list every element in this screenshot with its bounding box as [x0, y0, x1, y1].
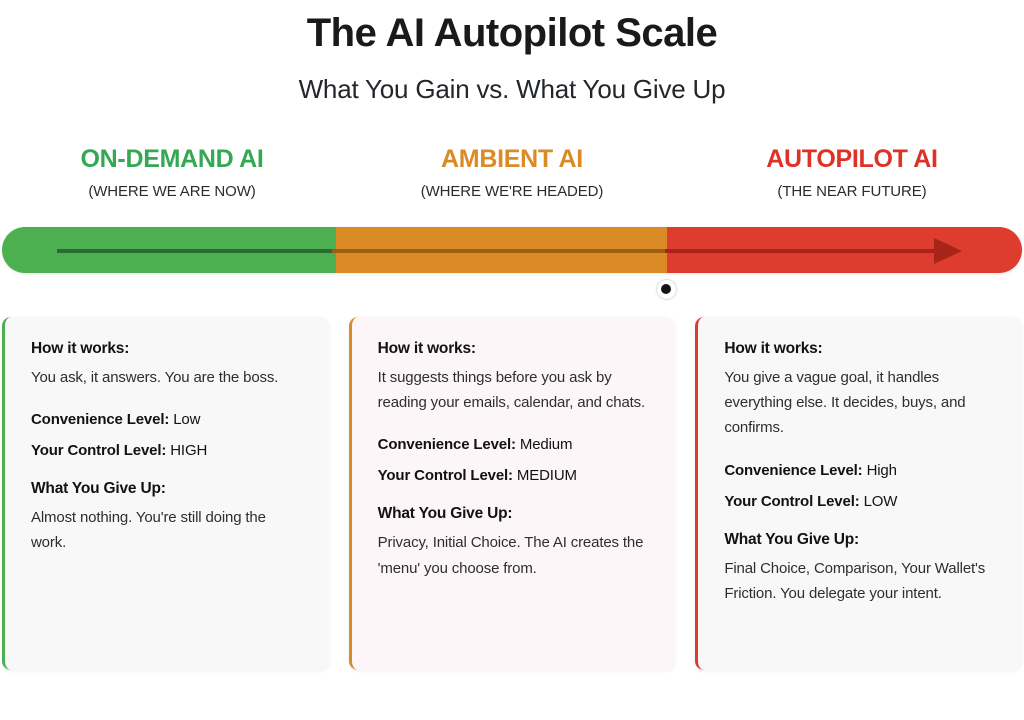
- control-level-2: Your Control Level: MEDIUM: [378, 467, 652, 484]
- give-up-text-3: Final Choice, Comparison, Your Wallet's …: [724, 556, 998, 606]
- convenience-level-2: Convenience Level: Medium: [378, 436, 652, 453]
- scale-segment-ambient: [336, 227, 668, 273]
- control-value-1: HIGH: [170, 442, 207, 459]
- column-subtitle-on-demand: (WHERE WE ARE NOW): [2, 183, 342, 200]
- control-label-1: Your Control Level:: [31, 442, 166, 459]
- convenience-label-2: Convenience Level:: [378, 436, 516, 453]
- card-ambient: How it works: It suggests things before …: [349, 317, 676, 670]
- control-value-2: MEDIUM: [517, 467, 577, 484]
- convenience-value-3: High: [867, 462, 897, 479]
- control-label-3: Your Control Level:: [724, 493, 859, 510]
- give-up-text-1: Almost nothing. You're still doing the w…: [31, 505, 305, 555]
- column-title-autopilot: AUTOPILOT AI: [682, 145, 1022, 174]
- scale-segment-on-demand: [2, 227, 336, 273]
- control-level-3: Your Control Level: LOW: [724, 493, 998, 510]
- give-up-label-3: What You Give Up:: [724, 531, 998, 549]
- convenience-level-1: Convenience Level: Low: [31, 411, 305, 428]
- page-subtitle: What You Gain vs. What You Give Up: [0, 74, 1024, 105]
- convenience-label-1: Convenience Level:: [31, 411, 169, 428]
- convenience-level-3: Convenience Level: High: [724, 462, 998, 479]
- card-on-demand: How it works: You ask, it answers. You a…: [2, 317, 329, 670]
- column-subtitle-ambient: (WHERE WE'RE HEADED): [342, 183, 682, 200]
- column-header-on-demand: ON-DEMAND AI (WHERE WE ARE NOW): [2, 145, 342, 200]
- convenience-value-1: Low: [173, 411, 200, 428]
- column-title-ambient: AMBIENT AI: [342, 145, 682, 174]
- control-label-2: Your Control Level:: [378, 467, 513, 484]
- comparison-cards: How it works: You ask, it answers. You a…: [0, 317, 1024, 670]
- column-header-autopilot: AUTOPILOT AI (THE NEAR FUTURE): [682, 145, 1022, 200]
- marker-dot-icon: [661, 284, 671, 294]
- column-headers: ON-DEMAND AI (WHERE WE ARE NOW) AMBIENT …: [0, 145, 1024, 200]
- how-it-works-label-2: How it works:: [378, 340, 652, 358]
- current-position-marker[interactable]: [657, 280, 676, 299]
- convenience-label-3: Convenience Level:: [724, 462, 862, 479]
- how-it-works-text-3: You give a vague goal, it handles everyt…: [724, 365, 998, 441]
- scale-bar-container: [0, 227, 1024, 273]
- how-it-works-text-2: It suggests things before you ask by rea…: [378, 365, 652, 415]
- control-value-3: LOW: [864, 493, 898, 510]
- column-header-ambient: AMBIENT AI (WHERE WE'RE HEADED): [342, 145, 682, 200]
- column-subtitle-autopilot: (THE NEAR FUTURE): [682, 183, 1022, 200]
- how-it-works-text-1: You ask, it answers. You are the boss.: [31, 365, 305, 390]
- give-up-label-2: What You Give Up:: [378, 505, 652, 523]
- control-level-1: Your Control Level: HIGH: [31, 442, 305, 459]
- give-up-text-2: Privacy, Initial Choice. The AI creates …: [378, 530, 652, 580]
- column-title-on-demand: ON-DEMAND AI: [2, 145, 342, 174]
- how-it-works-label-3: How it works:: [724, 340, 998, 358]
- card-autopilot: How it works: You give a vague goal, it …: [695, 317, 1022, 670]
- how-it-works-label-1: How it works:: [31, 340, 305, 358]
- convenience-value-2: Medium: [520, 436, 572, 453]
- page-header: The AI Autopilot Scale What You Gain vs.…: [0, 0, 1024, 105]
- autopilot-scale-bar[interactable]: [2, 227, 1022, 273]
- scale-segment-autopilot: [667, 227, 1022, 273]
- page-title: The AI Autopilot Scale: [0, 8, 1024, 58]
- give-up-label-1: What You Give Up:: [31, 480, 305, 498]
